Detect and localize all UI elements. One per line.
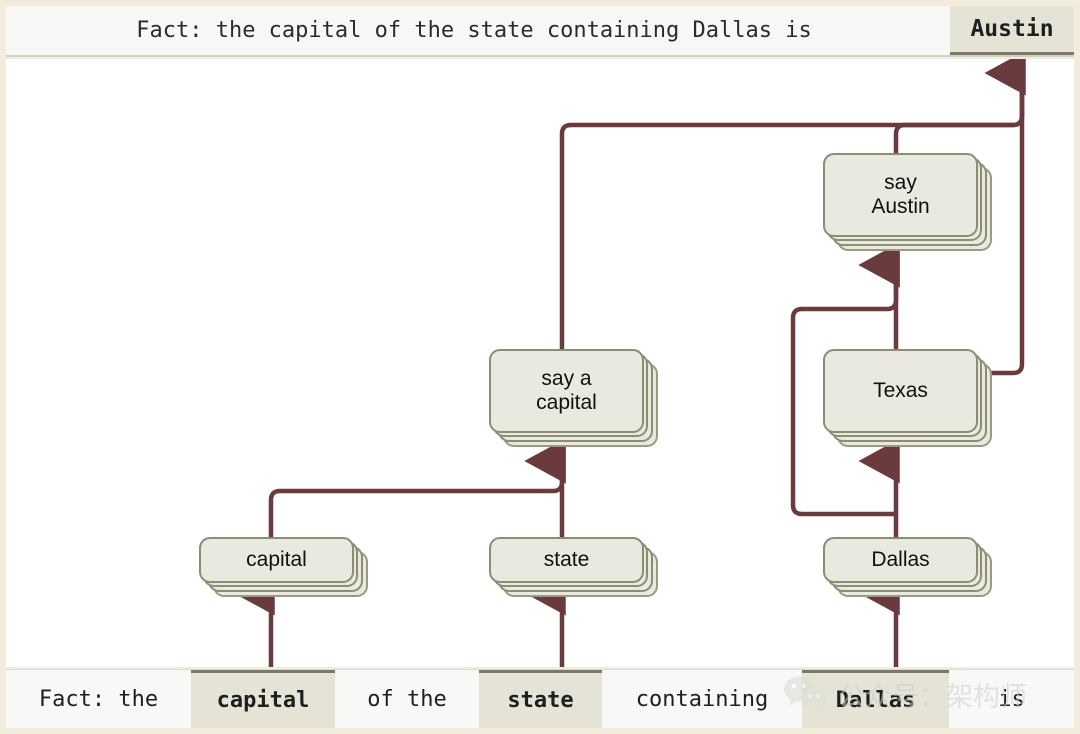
graph-node-label: capital bbox=[236, 548, 317, 572]
fact-prompt-text: Fact: the capital of the state containin… bbox=[6, 6, 950, 55]
graph-node-label: state bbox=[534, 548, 600, 572]
token-of-the[interactable]: of the bbox=[335, 670, 479, 728]
graph-node-dallas[interactable]: Dallas bbox=[823, 537, 978, 583]
graph-node-capital[interactable]: capital bbox=[199, 537, 354, 583]
token-dallas[interactable]: Dallas bbox=[802, 670, 949, 728]
graph-node-state[interactable]: state bbox=[489, 537, 644, 583]
token-bar: Fact: the capital of the state containin… bbox=[6, 669, 1074, 728]
fact-bar: Fact: the capital of the state containin… bbox=[6, 6, 1074, 57]
token-fact-the[interactable]: Fact: the bbox=[6, 670, 191, 728]
graph-canvas: capital state Dallas say a capital Texas… bbox=[6, 59, 1074, 667]
graph-node-label: say Austin bbox=[861, 171, 939, 218]
fact-answer-token[interactable]: Austin bbox=[950, 6, 1074, 55]
graph-node-say-austin[interactable]: say Austin bbox=[823, 153, 978, 237]
edge-capital-to-say-capital bbox=[271, 461, 562, 537]
token-capital[interactable]: capital bbox=[191, 670, 335, 728]
token-is[interactable]: is bbox=[949, 670, 1074, 728]
graph-node-say-a-capital[interactable]: say a capital bbox=[489, 349, 644, 433]
graph-node-texas[interactable]: Texas bbox=[823, 349, 978, 433]
graph-node-label: Dallas bbox=[861, 548, 939, 572]
token-state[interactable]: state bbox=[479, 670, 602, 728]
edge-say-austin-to-austin bbox=[896, 73, 1022, 153]
attribution-graph-view: Fact: the capital of the state containin… bbox=[0, 0, 1080, 734]
graph-node-label: say a capital bbox=[526, 367, 607, 414]
graph-node-label: Texas bbox=[863, 379, 938, 403]
token-containing[interactable]: containing bbox=[602, 670, 802, 728]
